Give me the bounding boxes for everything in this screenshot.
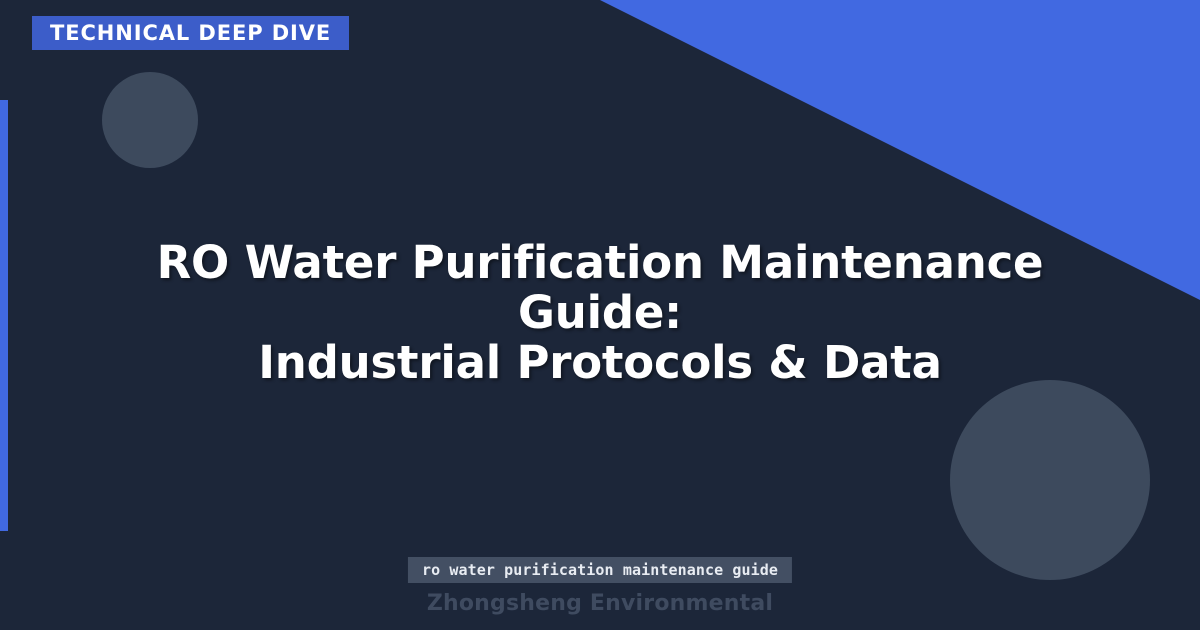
social-share-banner: TECHNICAL DEEP DIVE RO Water Purificatio…: [0, 0, 1200, 630]
circle-top-left-decoration: [102, 72, 198, 168]
brand-name: Zhongsheng Environmental: [427, 591, 773, 616]
circle-bottom-right-decoration: [950, 380, 1150, 580]
eyebrow-category-badge: TECHNICAL DEEP DIVE: [32, 16, 349, 50]
keyword-tag: ro water purification maintenance guide: [408, 557, 792, 583]
page-title: RO Water Purification Maintenance Guide:…: [70, 238, 1130, 388]
page-title-line-1: RO Water Purification Maintenance Guide:: [70, 238, 1130, 338]
page-title-line-2: Industrial Protocols & Data: [70, 338, 1130, 388]
keyword-tag-label: ro water purification maintenance guide: [422, 561, 778, 579]
brand-wordmark: Zhongsheng Environmental: [0, 591, 1200, 616]
headline-block: RO Water Purification Maintenance Guide:…: [0, 238, 1200, 388]
eyebrow-badge-label: TECHNICAL DEEP DIVE: [50, 21, 331, 45]
